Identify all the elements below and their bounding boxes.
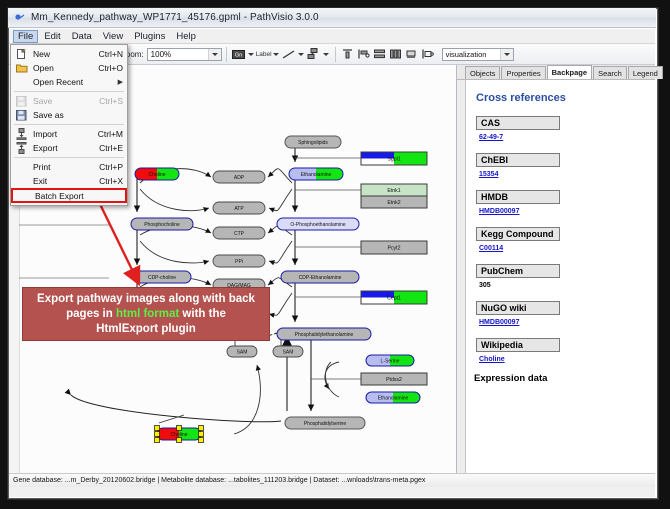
node-label: Pcyt2 bbox=[388, 246, 401, 252]
tab-legend[interactable]: Legend bbox=[628, 66, 663, 79]
pathway-node-etnk1[interactable]: Etnk1 bbox=[361, 184, 427, 196]
callout-line-2b: with the bbox=[179, 308, 226, 320]
node-label: CTP bbox=[234, 231, 245, 237]
align-top-icon[interactable] bbox=[340, 46, 356, 62]
cross-reference-link[interactable]: 15354 bbox=[479, 171, 656, 178]
file-menu-item-shortcut: Ctrl+N bbox=[99, 49, 123, 59]
callout-arrow-icon bbox=[95, 196, 165, 296]
menu-edit[interactable]: Edit bbox=[39, 30, 65, 43]
cross-reference-link[interactable]: 62-49-7 bbox=[479, 134, 656, 141]
callout-line-1: Export pathway images along with back bbox=[37, 292, 255, 307]
anchor-tool-icon[interactable] bbox=[306, 46, 322, 62]
node-label: Phosphatidylethanolamine bbox=[295, 332, 354, 338]
same-width-icon[interactable] bbox=[404, 46, 420, 62]
side-panel[interactable]: Objects Properties Backpage Search Legen… bbox=[457, 65, 655, 473]
file-menu-item-shortcut: Ctrl+X bbox=[99, 176, 123, 186]
file-menu-item-new[interactable]: NewCtrl+N bbox=[11, 47, 127, 61]
pathway-node-sphingolipids[interactable]: Sphingolipids bbox=[285, 136, 341, 148]
file-menu-separator bbox=[14, 91, 124, 92]
pathway-node-sam-right[interactable]: SAM bbox=[273, 346, 303, 357]
pathway-node-choline-top[interactable]: Choline bbox=[135, 168, 179, 180]
file-menu-item-open-recent[interactable]: Open Recent▶ bbox=[11, 75, 127, 89]
file-menu-item-save: SaveCtrl+S bbox=[11, 94, 127, 108]
file-menu-dropdown[interactable]: NewCtrl+NOpenCtrl+OOpen Recent▶SaveCtrl+… bbox=[10, 44, 128, 206]
distribute-horizontal-icon[interactable] bbox=[388, 46, 404, 62]
file-menu-item-label: Export bbox=[28, 143, 99, 153]
node-label: ADP bbox=[234, 175, 245, 181]
cross-reference-label: ChEBI bbox=[476, 153, 560, 167]
file-menu-item-label: Save as bbox=[28, 110, 123, 120]
zoom-value: 100% bbox=[151, 50, 171, 59]
pathway-node-phosphatidylserine[interactable]: Phosphatidylserine bbox=[285, 417, 365, 429]
file-menu-item-export[interactable]: ExportCtrl+E bbox=[11, 141, 127, 155]
pathway-node-sgpl1[interactable]: Sgpl1 bbox=[361, 152, 427, 165]
visualization-select[interactable]: visualization bbox=[442, 48, 514, 61]
pathway-node-phosphatidylethanolamine[interactable]: Phosphatidylethanolamine bbox=[277, 328, 371, 340]
cross-reference-entry: PubChem305 bbox=[476, 261, 656, 289]
submenu-chevron-right-icon: ▶ bbox=[118, 78, 123, 86]
node-label: Sphingolipids bbox=[298, 140, 328, 146]
file-menu-item-label: Import bbox=[28, 129, 98, 139]
node-label: Ethanolamine bbox=[378, 396, 409, 402]
node-label: Sgpl1 bbox=[387, 157, 400, 163]
label-tool-label[interactable]: Label bbox=[256, 51, 272, 58]
cross-reference-link[interactable]: HMDB00097 bbox=[479, 319, 656, 326]
pathvisio-app-icon bbox=[14, 12, 26, 24]
node-label: Choline bbox=[171, 432, 188, 438]
node-label: Ethanolamine bbox=[301, 172, 332, 178]
align-left-icon[interactable] bbox=[356, 46, 372, 62]
menu-plugins[interactable]: Plugins bbox=[129, 30, 170, 43]
tab-properties[interactable]: Properties bbox=[501, 66, 545, 79]
cross-reference-link[interactable]: Choline bbox=[479, 356, 656, 363]
import-icon bbox=[15, 128, 28, 140]
cross-reference-label: Kegg Compound bbox=[476, 227, 560, 241]
cross-reference-value: 305 bbox=[479, 282, 656, 289]
stack-vertical-icon[interactable] bbox=[372, 46, 388, 62]
callout-line-2: pages in html format with the bbox=[66, 307, 226, 322]
node-label: ATP bbox=[234, 206, 244, 212]
menu-item-no-icon bbox=[15, 76, 28, 88]
selection-handle[interactable] bbox=[155, 432, 160, 437]
new-document-icon bbox=[15, 48, 28, 60]
callout-line-3: HtmlExport plugin bbox=[96, 322, 196, 337]
backpage-content: Cross references CAS62-49-7ChEBI15354HMD… bbox=[465, 80, 656, 473]
cross-reference-label: HMDB bbox=[476, 190, 560, 204]
pathway-node-ptdss2[interactable]: Ptdss2 bbox=[361, 373, 427, 385]
pathway-node-adp[interactable]: ADP bbox=[213, 171, 265, 183]
cross-reference-label: CAS bbox=[476, 116, 560, 130]
zoom-select[interactable]: 100% bbox=[147, 48, 222, 61]
export-icon bbox=[15, 142, 28, 154]
node-label: PPi bbox=[235, 259, 243, 265]
bring-to-front-icon[interactable] bbox=[420, 46, 436, 62]
cross-reference-entry: WikipediaCholine bbox=[476, 335, 656, 363]
pathway-node-ethanolamine-right[interactable]: Ethanolamine bbox=[366, 392, 420, 403]
label-dropdown-icon[interactable] bbox=[272, 46, 281, 62]
visualization-value: visualization bbox=[446, 50, 487, 59]
save-disk-icon bbox=[15, 95, 28, 107]
cross-reference-label: PubChem bbox=[476, 264, 560, 278]
menu-item-no-icon bbox=[15, 175, 28, 187]
callout-annotation: Export pathway images along with back pa… bbox=[22, 287, 270, 341]
file-menu-item-label: Open Recent bbox=[28, 77, 118, 87]
file-menu-item-print[interactable]: PrintCtrl+P bbox=[11, 160, 127, 174]
cross-reference-entry: HMDBHMDB00097 bbox=[476, 187, 656, 215]
open-folder-icon bbox=[15, 62, 28, 74]
file-menu-item-shortcut: Ctrl+O bbox=[98, 63, 123, 73]
menubar[interactable]: File Edit Data View Plugins Help bbox=[9, 29, 655, 44]
statusbar-text: Gene database: ...m_Derby_20120602.bridg… bbox=[13, 477, 425, 484]
node-label: L-Serine bbox=[381, 359, 400, 365]
cross-reference-list: CAS62-49-7ChEBI15354HMDBHMDB00097Kegg Co… bbox=[466, 113, 656, 363]
node-label: Etnk1 bbox=[387, 188, 400, 194]
screenshot-root: Mm_Kennedy_pathway_WP1771_45176.gpml - P… bbox=[0, 0, 670, 509]
selection-handle[interactable] bbox=[199, 432, 204, 437]
file-menu-item-shortcut: Ctrl+E bbox=[99, 143, 123, 153]
statusbar: Gene database: ...m_Derby_20120602.bridg… bbox=[9, 473, 655, 487]
file-menu-item-label: New bbox=[28, 49, 99, 59]
pathway-node-pcyt2[interactable]: Pcyt2 bbox=[361, 241, 427, 254]
window-title: Mm_Kennedy_pathway_WP1771_45176.gpml - P… bbox=[31, 12, 319, 23]
side-panel-tabs[interactable]: Objects Properties Backpage Search Legen… bbox=[457, 65, 655, 80]
file-menu-item-save-as[interactable]: Save as bbox=[11, 108, 127, 122]
line-tool-icon[interactable] bbox=[281, 46, 297, 62]
file-menu-item-exit[interactable]: ExitCtrl+X bbox=[11, 174, 127, 188]
datanode-dropdown-icon[interactable] bbox=[247, 46, 256, 62]
cross-reference-entry: CAS62-49-7 bbox=[476, 113, 656, 141]
pathway-node-cdp-ethanolamine[interactable]: CDP-Ethanolamine bbox=[281, 271, 359, 283]
node-label: SAM bbox=[237, 350, 248, 356]
anchor-dropdown-icon[interactable] bbox=[322, 46, 331, 62]
toolbar-separator-2 bbox=[335, 47, 336, 62]
selection-handle[interactable] bbox=[199, 438, 204, 443]
file-menu-item-label: Open bbox=[28, 63, 98, 73]
svg-text:Gn: Gn bbox=[235, 52, 242, 58]
pathway-node-cept1[interactable]: Cept1 bbox=[361, 291, 427, 304]
file-menu-item-shortcut: Ctrl+M bbox=[98, 129, 123, 139]
file-menu-item-label: Print bbox=[28, 162, 99, 172]
toolbar-separator bbox=[226, 47, 227, 62]
selection-handle[interactable] bbox=[177, 438, 182, 443]
pathway-node-atp[interactable]: ATP bbox=[213, 202, 265, 214]
menu-file[interactable]: File bbox=[13, 30, 38, 43]
selection-handle[interactable] bbox=[155, 438, 160, 443]
pathway-node-etnk2[interactable]: Etnk2 bbox=[361, 196, 427, 208]
selection-handle[interactable] bbox=[199, 426, 204, 431]
cross-reference-label: NuGO wiki bbox=[476, 301, 560, 315]
window-bottom-edge bbox=[9, 487, 655, 497]
expression-data-title: Expression data bbox=[474, 373, 656, 384]
cross-reference-entry: ChEBI15354 bbox=[476, 150, 656, 178]
tab-backpage[interactable]: Backpage bbox=[547, 65, 592, 79]
selection-handle[interactable] bbox=[177, 426, 182, 431]
menu-data[interactable]: Data bbox=[67, 30, 97, 43]
node-label: Choline bbox=[149, 172, 166, 178]
file-menu-item-shortcut: Ctrl+S bbox=[99, 96, 123, 106]
line-dropdown-icon[interactable] bbox=[297, 46, 306, 62]
file-menu-item-label: Exit bbox=[28, 176, 99, 186]
file-menu-separator bbox=[14, 124, 124, 125]
file-menu-item-label: Batch Export bbox=[30, 191, 121, 201]
callout-highlight: html format bbox=[116, 308, 179, 320]
file-menu-item-shortcut: Ctrl+P bbox=[99, 162, 123, 172]
node-label: Cept1 bbox=[387, 296, 401, 302]
file-menu-item-import[interactable]: ImportCtrl+M bbox=[11, 127, 127, 141]
node-label: SAM bbox=[283, 350, 294, 356]
cross-reference-link[interactable]: HMDB00097 bbox=[479, 208, 656, 215]
cross-references-title: Cross references bbox=[476, 92, 656, 104]
pathway-node-sam-left[interactable]: SAM bbox=[227, 346, 257, 357]
cross-reference-label: Wikipedia bbox=[476, 338, 560, 352]
node-label: O-Phosphoethanolamine bbox=[290, 222, 346, 228]
callout-line-2a: pages in bbox=[66, 308, 116, 320]
file-menu-item-label: Save bbox=[28, 96, 99, 106]
tab-search[interactable]: Search bbox=[593, 66, 627, 79]
node-label: Etnk2 bbox=[387, 200, 400, 206]
datanode-tool-icon[interactable]: Gn bbox=[231, 46, 247, 62]
node-label: Ptdss2 bbox=[386, 377, 402, 383]
file-menu-item-batch-export[interactable]: Batch Export bbox=[11, 188, 127, 203]
pathway-node-o-phosphoethanolamine[interactable]: O-Phosphoethanolamine bbox=[277, 218, 359, 230]
file-menu-item-open[interactable]: OpenCtrl+O bbox=[11, 61, 127, 75]
window-titlebar: Mm_Kennedy_pathway_WP1771_45176.gpml - P… bbox=[8, 8, 656, 28]
node-label: Phosphatidylserine bbox=[304, 421, 346, 427]
cross-reference-link[interactable]: C00114 bbox=[479, 245, 656, 252]
chevron-down-icon[interactable] bbox=[208, 49, 221, 60]
menu-help[interactable]: Help bbox=[171, 30, 201, 43]
tab-objects[interactable]: Objects bbox=[465, 66, 500, 79]
selection-handle[interactable] bbox=[155, 426, 160, 431]
file-menu-separator bbox=[14, 157, 124, 158]
pathway-node-l-serine[interactable]: L-Serine bbox=[366, 355, 414, 366]
visualization-chevron-down-icon[interactable] bbox=[500, 49, 513, 60]
pathway-node-ppi[interactable]: PPi bbox=[213, 255, 265, 267]
pathway-node-ctp[interactable]: CTP bbox=[213, 227, 265, 239]
menu-view[interactable]: View bbox=[98, 30, 128, 43]
pathway-node-choline-bottom[interactable]: Choline bbox=[155, 426, 204, 443]
cross-reference-entry: Kegg CompoundC00114 bbox=[476, 224, 656, 252]
menu-item-no-icon bbox=[15, 161, 28, 173]
pathway-node-ethanolamine-top[interactable]: Ethanolamine bbox=[289, 168, 343, 180]
node-label: CDP-Ethanolamine bbox=[299, 275, 342, 281]
cross-reference-entry: NuGO wikiHMDB00097 bbox=[476, 298, 656, 326]
menu-item-no-icon bbox=[17, 190, 30, 202]
save-as-icon bbox=[15, 109, 28, 121]
